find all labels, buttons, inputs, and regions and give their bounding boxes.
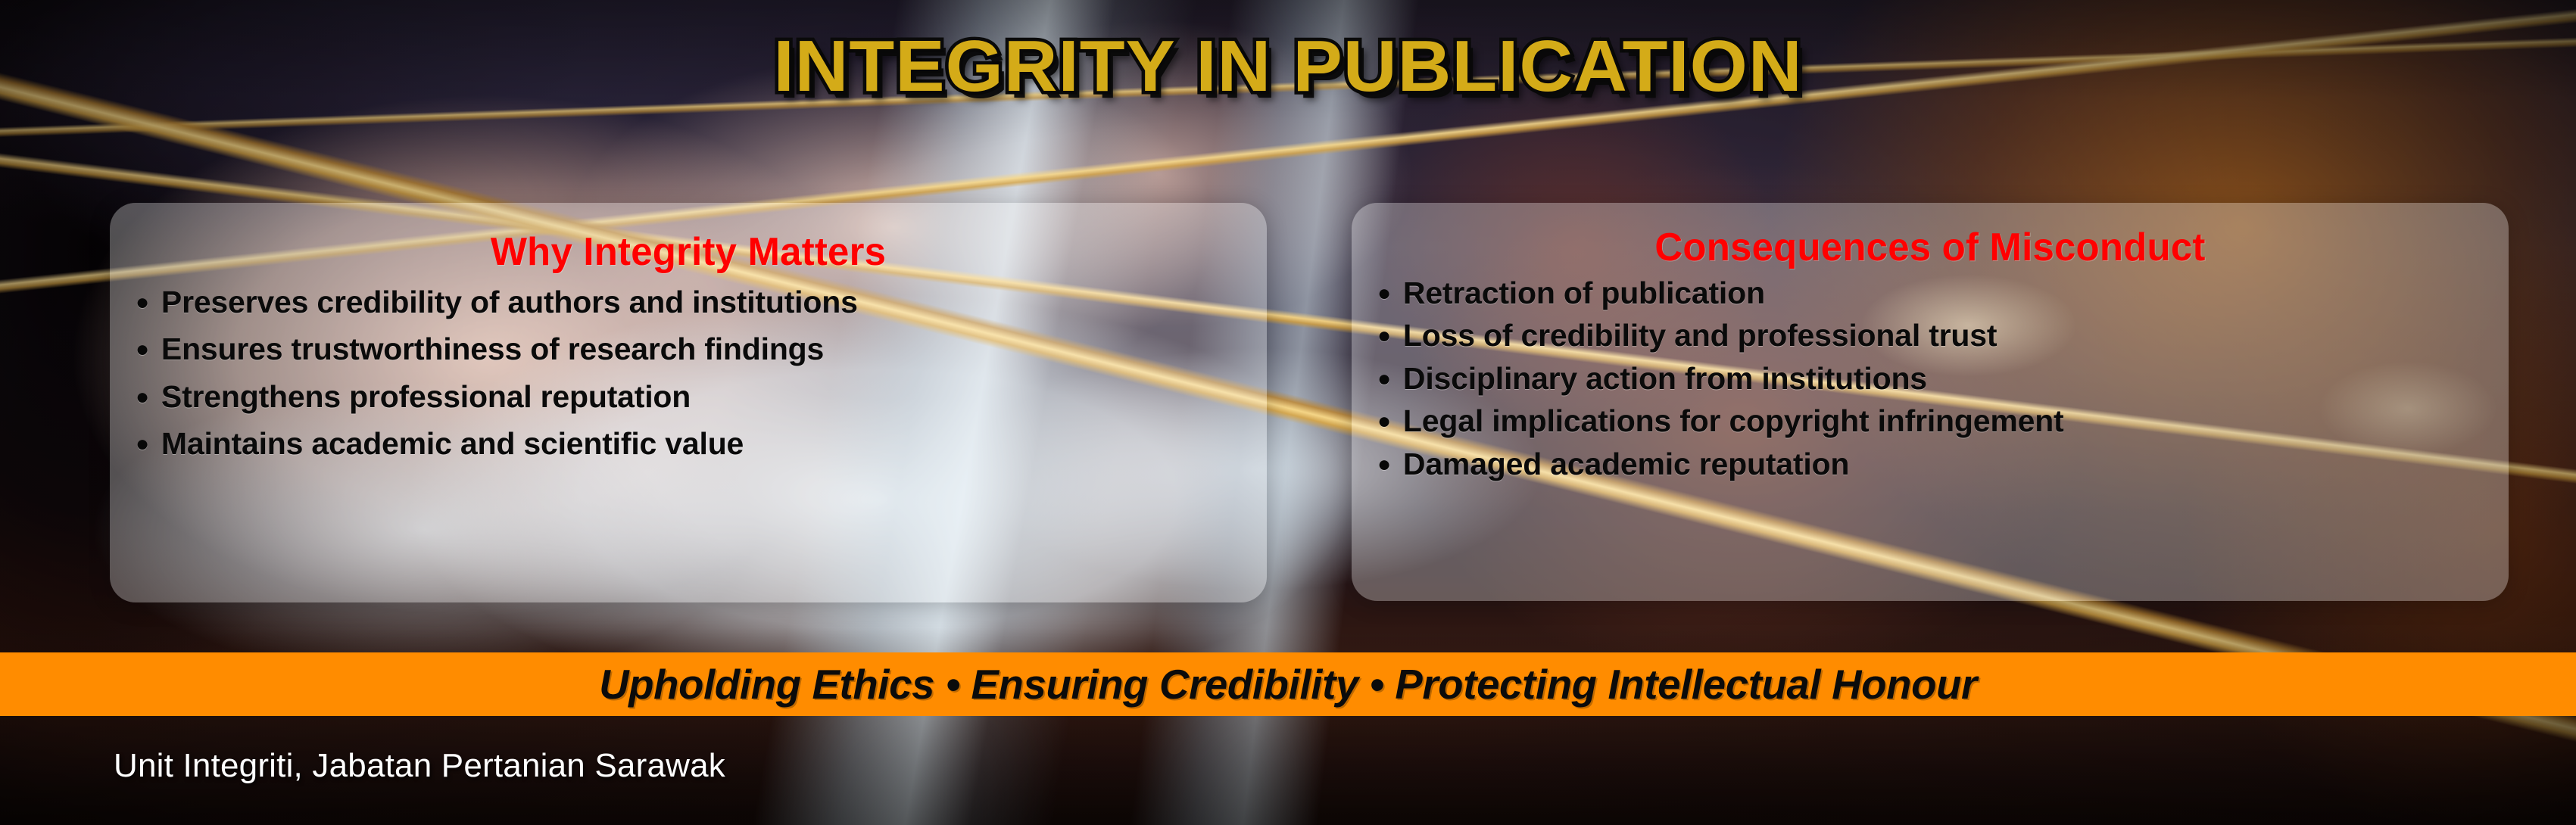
list-item-label: Retraction of publication xyxy=(1403,275,1765,311)
list-item: ● Strengthens professional reputation xyxy=(136,378,1241,415)
list-item: ● Loss of credibility and professional t… xyxy=(1377,317,2483,353)
card-right-bullet-list: ● Retraction of publication ● Loss of cr… xyxy=(1377,275,2483,482)
bullet-dot-icon: ● xyxy=(136,291,149,314)
tagline-text: Upholding Ethics • Ensuring Credibility … xyxy=(599,664,1977,705)
list-item: ● Damaged academic reputation xyxy=(1377,446,2483,482)
bullet-dot-icon: ● xyxy=(136,433,149,456)
bullet-dot-icon: ● xyxy=(1377,325,1391,347)
list-item: ● Legal implications for copyright infri… xyxy=(1377,403,2483,439)
tagline-banner: Upholding Ethics • Ensuring Credibility … xyxy=(0,652,2576,716)
list-item-label: Loss of credibility and professional tru… xyxy=(1403,317,1997,353)
bullet-dot-icon: ● xyxy=(1377,282,1391,305)
bullet-dot-icon: ● xyxy=(136,338,149,361)
list-item-label: Legal implications for copyright infring… xyxy=(1403,403,2064,439)
bullet-dot-icon: ● xyxy=(1377,368,1391,391)
footer: Unit Integriti, Jabatan Pertanian Sarawa… xyxy=(114,748,725,784)
bullet-dot-icon: ● xyxy=(1377,410,1391,433)
poster-root: INTEGRITY IN PUBLICATION Why Integrity M… xyxy=(0,0,2576,825)
card-left-bullet-list: ● Preserves credibility of authors and i… xyxy=(136,284,1241,462)
bullet-dot-icon: ● xyxy=(136,386,149,409)
list-item: ● Maintains academic and scientific valu… xyxy=(136,425,1241,462)
bullet-dot-icon: ● xyxy=(1377,453,1391,476)
list-item-label: Damaged academic reputation xyxy=(1403,446,1849,482)
card-consequences-of-misconduct: Consequences of Misconduct ● Retraction … xyxy=(1352,203,2509,601)
list-item-label: Ensures trustworthiness of research find… xyxy=(161,331,824,367)
list-item: ● Disciplinary action from institutions xyxy=(1377,360,2483,397)
list-item: ● Retraction of publication xyxy=(1377,275,2483,311)
card-why-integrity-matters: Why Integrity Matters ● Preserves credib… xyxy=(110,203,1267,602)
footer-organisation-label: Unit Integriti, Jabatan Pertanian Sarawa… xyxy=(114,747,725,784)
list-item-label: Disciplinary action from institutions xyxy=(1403,360,1927,397)
list-item-label: Strengthens professional reputation xyxy=(161,378,691,415)
list-item-label: Maintains academic and scientific value xyxy=(161,425,744,462)
card-left-heading: Why Integrity Matters xyxy=(147,232,1230,273)
list-item: ● Preserves credibility of authors and i… xyxy=(136,284,1241,320)
page-title: INTEGRITY IN PUBLICATION xyxy=(0,30,2576,103)
list-item-label: Preserves credibility of authors and ins… xyxy=(161,284,858,320)
card-right-heading: Consequences of Misconduct xyxy=(1389,227,2472,269)
list-item: ● Ensures trustworthiness of research fi… xyxy=(136,331,1241,367)
